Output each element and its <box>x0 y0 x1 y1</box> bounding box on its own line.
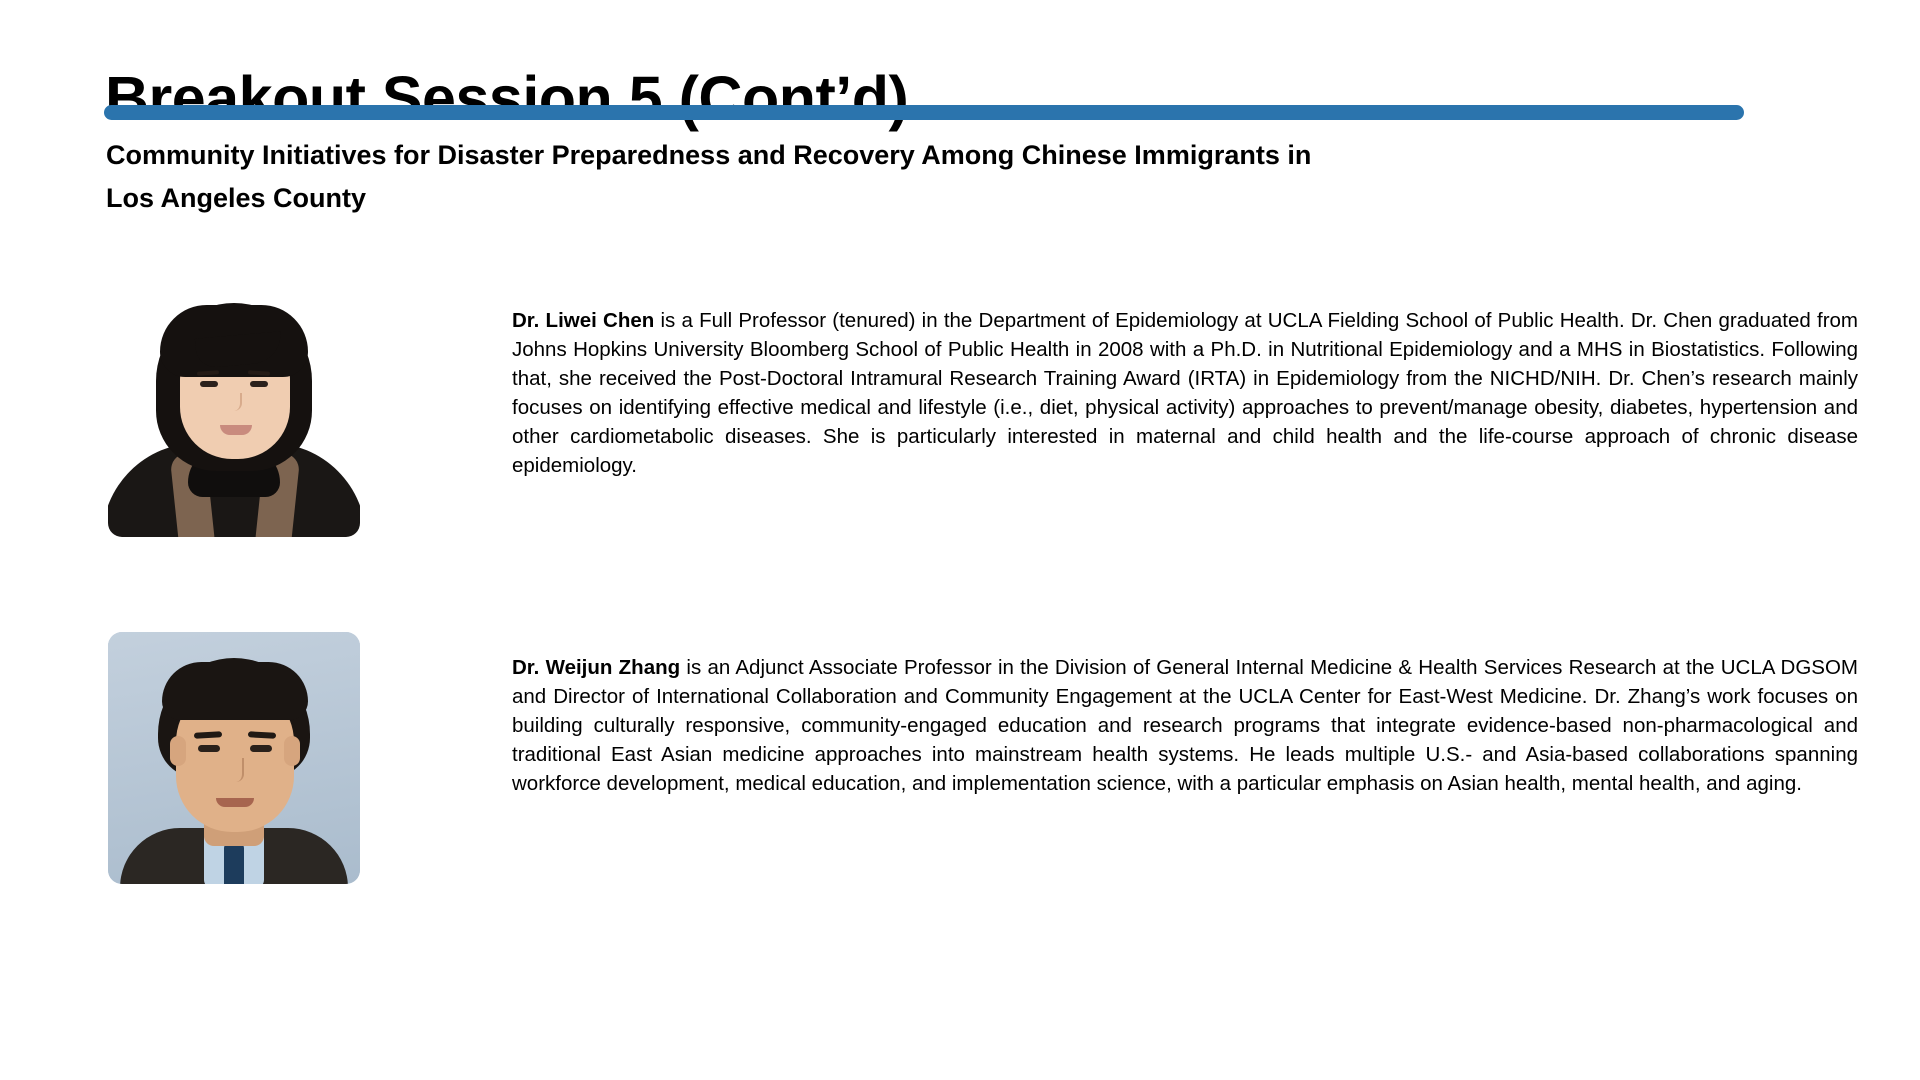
speaker-bio-text-2: is an Adjunct Associate Professor in the… <box>512 656 1858 795</box>
subtitle-line-1: Community Initiatives for Disaster Prepa… <box>106 134 1716 177</box>
slide-subtitle: Community Initiatives for Disaster Prepa… <box>106 134 1716 220</box>
subtitle-line-2: Los Angeles County <box>106 177 1716 220</box>
speaker-block-2: Dr. Weijun Zhang is an Adjunct Associate… <box>108 632 1858 884</box>
speaker-bio-text-1: is a Full Professor (tenured) in the Dep… <box>512 309 1858 477</box>
speaker-name-2: Dr. Weijun Zhang <box>512 656 680 679</box>
page-title: Breakout Session 5 (Cont’d) <box>105 63 908 133</box>
speaker-bio-1: Dr. Liwei Chen is a Full Professor (tenu… <box>512 306 1858 480</box>
speaker-name-1: Dr. Liwei Chen <box>512 309 654 332</box>
speaker-photo-weijun-zhang <box>108 632 360 884</box>
slide-canvas: Breakout Session 5 (Cont’d) Community In… <box>0 0 1920 1080</box>
speaker-block-1: Dr. Liwei Chen is a Full Professor (tenu… <box>108 285 1858 537</box>
speaker-photo-liwei-chen <box>108 285 360 537</box>
speaker-bio-2: Dr. Weijun Zhang is an Adjunct Associate… <box>512 653 1858 798</box>
title-accent-rule <box>104 105 1744 120</box>
